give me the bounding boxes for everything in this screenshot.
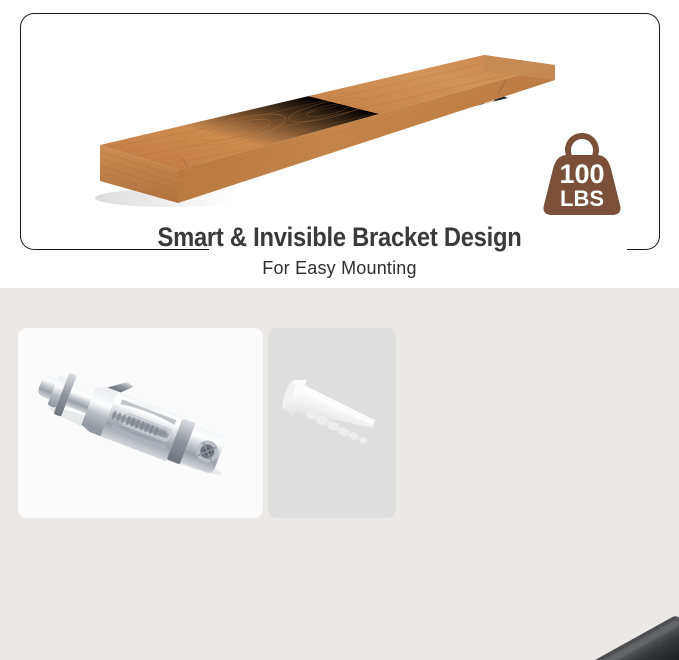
frame-corner-top-right [646,13,660,27]
frame-border-right [659,26,660,238]
frame-corner-top-left [20,13,34,27]
frame-corner-bottom-left [20,236,34,250]
plastic-anchor-card [268,328,396,518]
metal-anchor-image [26,366,256,486]
metal-anchor-card [18,328,263,518]
weight-capacity-badge: 100 LBS [536,130,628,218]
bottom-panel: Upgrade Metal Anchors heavy-duty [0,288,679,660]
frame-border-top [34,13,646,14]
page-subtitle: For Easy Mounting [0,258,679,279]
page-title: Smart & Invisible Bracket Design [41,222,639,253]
weight-unit: LBS [560,186,604,211]
top-panel: 100 LBS Smart & Invisible Bracket Design… [0,0,679,288]
iron-rod-image [378,616,679,660]
wooden-shelf-image [60,18,555,213]
frame-corner-bottom-right [646,236,660,250]
product-feature-image: 100 LBS Smart & Invisible Bracket Design… [0,0,679,660]
weight-value: 100 [559,159,604,189]
frame-border-left [20,26,21,238]
plastic-anchor-image [278,380,393,455]
